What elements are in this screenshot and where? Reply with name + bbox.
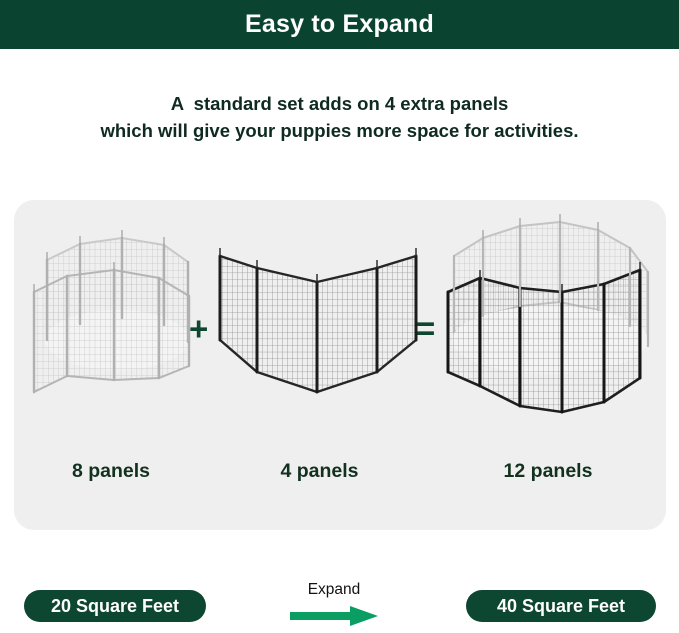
arrow-right-icon xyxy=(288,604,380,628)
comparison-card: + xyxy=(14,200,666,530)
pen-label-8-panels: 8 panels xyxy=(22,458,200,484)
pen-image-4-panels xyxy=(212,200,427,458)
expand-label: Expand xyxy=(282,580,386,600)
subtitle-block: A standard set adds on 4 extra panels wh… xyxy=(0,90,679,144)
pen-image-8-panels xyxy=(22,200,200,458)
pen-image-12-panels xyxy=(438,200,658,458)
subtitle-line-1: A standard set adds on 4 extra panels xyxy=(0,90,679,117)
pen-illustration-row: + xyxy=(14,200,666,458)
four-panel-arc-icon xyxy=(212,200,427,458)
plus-operator: + xyxy=(189,312,208,345)
page-title: Easy to Expand xyxy=(245,12,434,37)
pen-label-4-panels: 4 panels xyxy=(212,458,427,484)
expand-indicator: Expand xyxy=(282,580,386,633)
pen-label-12-panels: 12 panels xyxy=(438,458,658,484)
header-bar: Easy to Expand xyxy=(0,0,679,49)
dodecagon-pen-icon xyxy=(438,200,658,458)
footer-row: 20 Square Feet Expand 40 Square Feet xyxy=(0,560,679,632)
pen-label-row: 8 panels 4 panels 12 panels xyxy=(14,458,666,504)
area-badge-before: 20 Square Feet xyxy=(24,590,206,622)
area-badge-after: 40 Square Feet xyxy=(466,590,656,622)
equals-operator: = xyxy=(416,312,435,345)
octagon-pen-icon xyxy=(22,200,200,458)
subtitle-line-2: which will give your puppies more space … xyxy=(0,117,679,144)
